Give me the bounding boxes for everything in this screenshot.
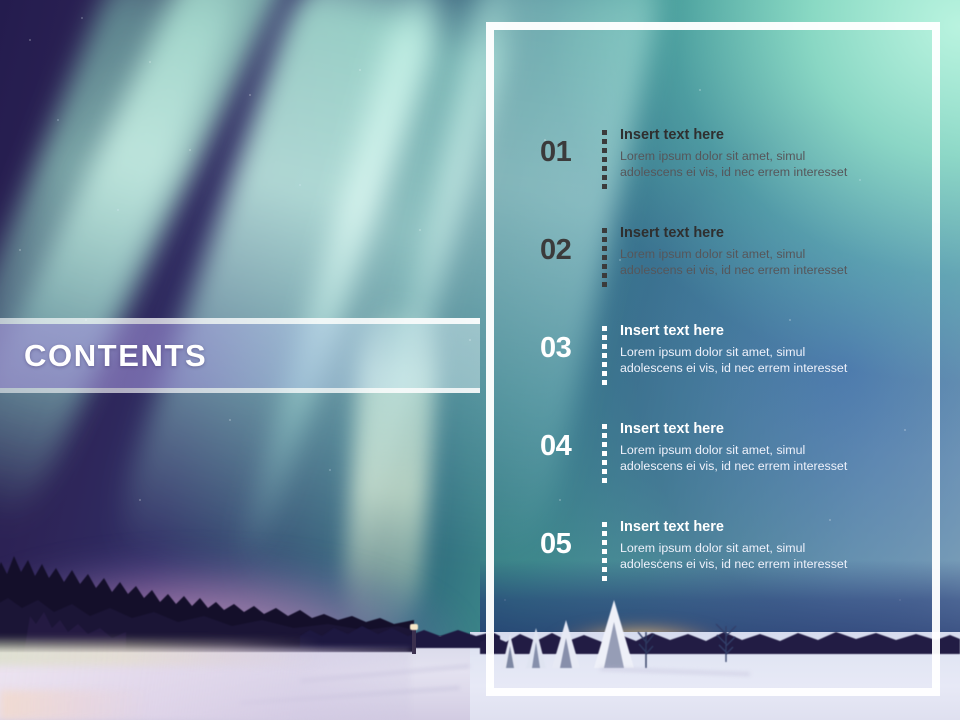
toc-number-03: 03 [540, 322, 598, 363]
divider-dot [602, 175, 607, 180]
divider-dot [602, 362, 607, 367]
divider-dot [602, 184, 607, 189]
contents-banner: CONTENTS [0, 324, 480, 388]
divider-dot [602, 335, 607, 340]
toc-dotted-divider-04 [598, 420, 610, 483]
divider-dot [602, 424, 607, 429]
toc-dotted-divider-01 [598, 126, 610, 189]
divider-dot [602, 264, 607, 269]
toc-number-05: 05 [540, 518, 598, 559]
divider-dot [602, 558, 607, 563]
divider-dot [602, 522, 607, 527]
divider-dot [602, 157, 607, 162]
divider-dot [602, 540, 607, 545]
divider-dot [602, 531, 607, 536]
toc-body-line2-03: adolescens ei vis, id nec errem interess… [620, 360, 920, 376]
toc-item-03[interactable]: 03 Insert text here Lorem ipsum dolor si… [540, 322, 920, 400]
road-warm-reflection [0, 690, 150, 720]
divider-dot [602, 228, 607, 233]
divider-dot [602, 148, 607, 153]
toc-heading-05: Insert text here [620, 518, 920, 538]
table-of-contents-list: 01 Insert text here Lorem ipsum dolor si… [486, 22, 940, 696]
divider-dot [602, 246, 607, 251]
divider-dot [602, 166, 607, 171]
divider-dot [602, 433, 607, 438]
toc-item-05[interactable]: 05 Insert text here Lorem ipsum dolor si… [540, 518, 920, 596]
toc-dotted-divider-05 [598, 518, 610, 581]
presentation-slide: CONTENTS 01 Insert text here Lorem ipsum… [0, 0, 960, 720]
toc-body-line1-02: Lorem ipsum dolor sit amet, simul [620, 246, 920, 262]
toc-item-01[interactable]: 01 Insert text here Lorem ipsum dolor si… [540, 126, 920, 204]
toc-dotted-divider-02 [598, 224, 610, 287]
toc-body-line2-01: adolescens ei vis, id nec errem interess… [620, 164, 920, 180]
toc-heading-02: Insert text here [620, 224, 920, 244]
toc-text-block-03: Insert text here Lorem ipsum dolor sit a… [610, 322, 920, 376]
divider-dot [602, 451, 607, 456]
divider-dot [602, 139, 607, 144]
divider-dot [602, 130, 607, 135]
divider-dot [602, 344, 607, 349]
roadside-post-light [410, 624, 418, 630]
toc-text-block-01: Insert text here Lorem ipsum dolor sit a… [610, 126, 920, 180]
toc-heading-03: Insert text here [620, 322, 920, 342]
toc-body-line2-05: adolescens ei vis, id nec errem interess… [620, 556, 920, 572]
toc-text-block-05: Insert text here Lorem ipsum dolor sit a… [610, 518, 920, 572]
divider-dot [602, 567, 607, 572]
toc-body-line1-05: Lorem ipsum dolor sit amet, simul [620, 540, 920, 556]
divider-dot [602, 478, 607, 483]
toc-body-line2-04: adolescens ei vis, id nec errem interess… [620, 458, 920, 474]
toc-body-line1-03: Lorem ipsum dolor sit amet, simul [620, 344, 920, 360]
toc-item-02[interactable]: 02 Insert text here Lorem ipsum dolor si… [540, 224, 920, 302]
toc-dotted-divider-03 [598, 322, 610, 385]
divider-dot [602, 255, 607, 260]
divider-dot [602, 371, 607, 376]
divider-dot [602, 442, 607, 447]
toc-body-line1-04: Lorem ipsum dolor sit amet, simul [620, 442, 920, 458]
divider-dot [602, 237, 607, 242]
toc-body-line2-02: adolescens ei vis, id nec errem interess… [620, 262, 920, 278]
toc-text-block-02: Insert text here Lorem ipsum dolor sit a… [610, 224, 920, 278]
contents-banner-bottom-edge [0, 388, 480, 393]
divider-dot [602, 273, 607, 278]
divider-dot [602, 460, 607, 465]
toc-text-block-04: Insert text here Lorem ipsum dolor sit a… [610, 420, 920, 474]
divider-dot [602, 576, 607, 581]
roadside-post [412, 628, 416, 654]
toc-number-02: 02 [540, 224, 598, 265]
divider-dot [602, 326, 607, 331]
divider-dot [602, 380, 607, 385]
toc-body-line1-01: Lorem ipsum dolor sit amet, simul [620, 148, 920, 164]
divider-dot [602, 282, 607, 287]
snow-verge [0, 640, 320, 666]
toc-number-04: 04 [540, 420, 598, 461]
left-far-treeline-silhouette [300, 614, 500, 648]
page-title: CONTENTS [24, 338, 207, 374]
toc-item-04[interactable]: 04 Insert text here Lorem ipsum dolor si… [540, 420, 920, 498]
divider-dot [602, 469, 607, 474]
toc-heading-04: Insert text here [620, 420, 920, 440]
toc-number-01: 01 [540, 126, 598, 167]
divider-dot [602, 549, 607, 554]
divider-dot [602, 353, 607, 358]
toc-heading-01: Insert text here [620, 126, 920, 146]
